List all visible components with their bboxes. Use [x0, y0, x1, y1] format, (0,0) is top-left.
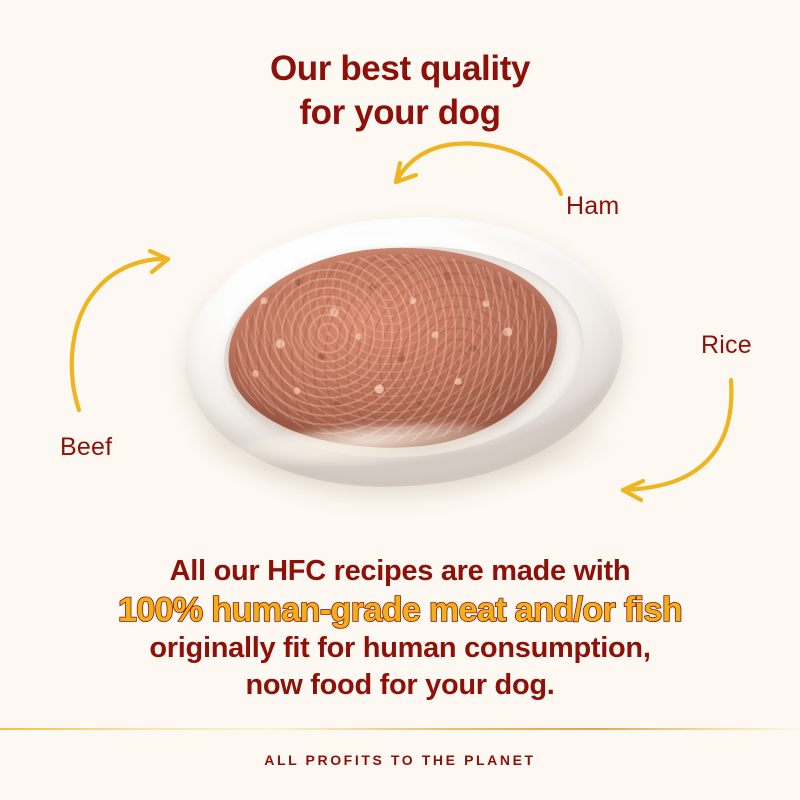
headline-line-1: Our best quality	[0, 47, 800, 91]
claim-line-2-highlight: 100% human-grade meat and/or fish	[0, 590, 800, 630]
headline-line-2: for your dog	[0, 91, 800, 135]
callout-label-ham: Ham	[566, 192, 619, 221]
claim-block: All our HFC recipes are made with 100% h…	[0, 553, 800, 704]
claim-line-4: now food for your dog.	[0, 667, 800, 704]
callout-label-rice: Rice	[701, 331, 752, 360]
page-title: Our best quality for your dog	[0, 47, 800, 135]
claim-line-3: originally fit for human consumption,	[0, 630, 800, 667]
food-pate	[221, 237, 564, 460]
promo-canvas: Our best quality for your dog	[0, 0, 800, 800]
footer-tagline: ALL PROFITS TO THE PLANET	[0, 752, 800, 768]
callout-label-beef: Beef	[60, 433, 112, 462]
product-image	[150, 200, 650, 520]
claim-line-1: All our HFC recipes are made with	[0, 553, 800, 590]
footer-divider	[0, 728, 800, 730]
ham-arrow-icon	[396, 143, 561, 194]
